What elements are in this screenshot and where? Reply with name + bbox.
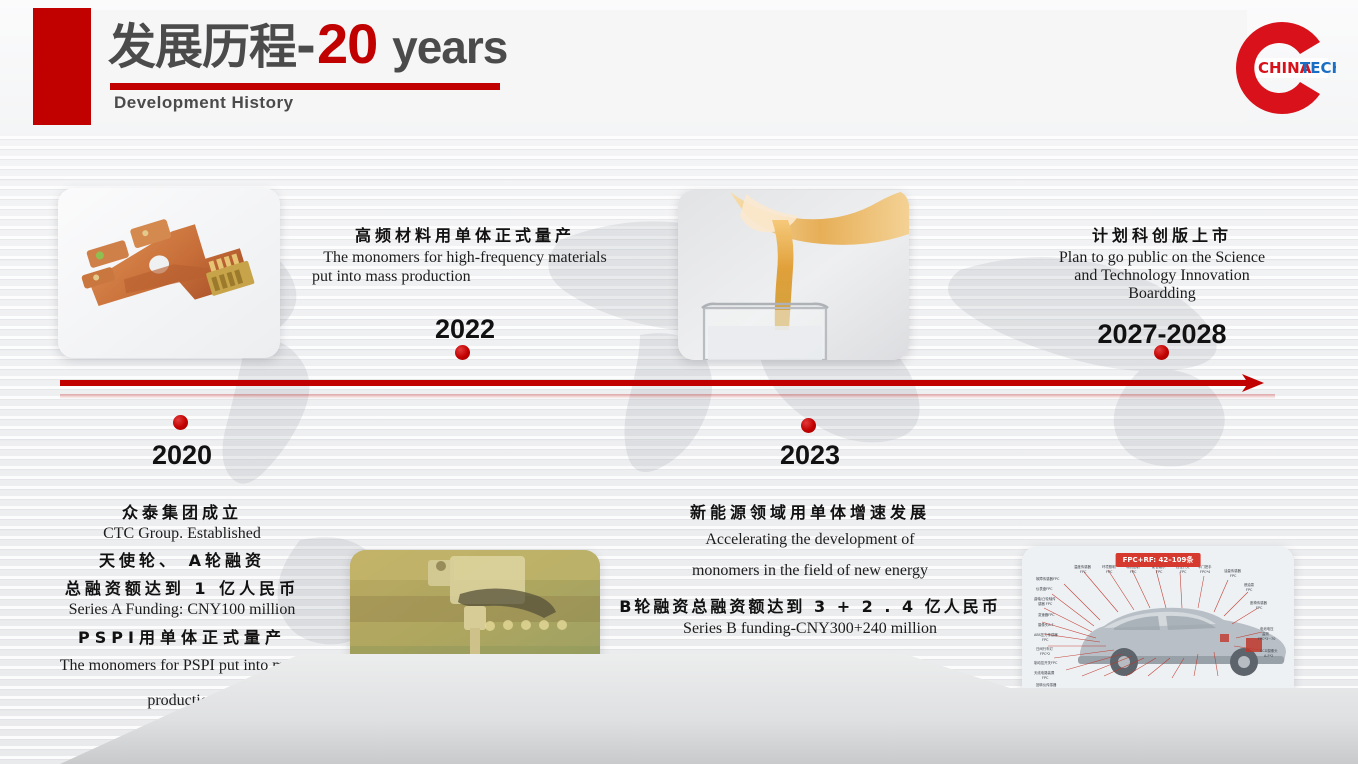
svg-text:FPC*3~70: FPC*3~70 xyxy=(1258,637,1275,641)
milestone-2023-line-3: B轮融资总融资额达到 3 + 2 . 4 亿人民币 xyxy=(615,593,1005,617)
svg-text:CCD摄像头: CCD摄像头 xyxy=(1260,648,1278,653)
timeline-axis xyxy=(60,380,1250,386)
svg-text:FPC: FPC xyxy=(1180,570,1187,574)
svg-text:回转仪传感器: 回转仪传感器 xyxy=(1036,682,1057,687)
milestone-2020-line-3: 总融资额达到 1 亿人民币 xyxy=(32,575,332,599)
svg-text:FPC*2: FPC*2 xyxy=(1236,694,1246,698)
page-title-number: 20 xyxy=(315,12,379,75)
svg-text:油量传感器: 油量传感器 xyxy=(1224,568,1242,573)
photo-car-diagram: 故障传感器FPC仪表盘FPC 曲轴/凸轮轴传感器 FPC 变速器FPC摄像头A-… xyxy=(1022,546,1294,704)
page-title-cn: 发展历程- xyxy=(108,19,315,75)
svg-text:FPC: FPC xyxy=(1042,688,1049,692)
svg-text:曲轴/凸轮轴传: 曲轴/凸轮轴传 xyxy=(1034,596,1056,601)
milestone-2023-line-5: 光刻胶单体开始布局 xyxy=(615,658,1005,682)
svg-text:温度传感器: 温度传感器 xyxy=(1074,564,1092,569)
svg-text:监测: 监测 xyxy=(1262,631,1269,636)
svg-text:燃油泵: 燃油泵 xyxy=(1244,582,1255,587)
timeline-axis-reflection xyxy=(60,394,1275,399)
page-title-years: years xyxy=(392,21,507,73)
milestone-2027-line-0: 计划科创版上市 xyxy=(1022,222,1302,246)
slide-root: 发展历程-20 years Development History CHINA … xyxy=(0,0,1358,764)
milestone-2020-line-4: Series A Funding: CNY100 million xyxy=(32,601,332,619)
milestone-2023-line-6: Photoresist monomers xyxy=(615,685,1005,703)
company-logo: CHINA TECH xyxy=(1228,14,1336,122)
svg-text:FPC: FPC xyxy=(1256,606,1263,610)
milestone-2022-line-0: 高频材料用单体正式量产 xyxy=(300,222,630,246)
svg-text:FPC*2: FPC*2 xyxy=(1040,652,1050,656)
svg-text:座椅: 座椅 xyxy=(1190,688,1197,693)
timeline-dot-2020 xyxy=(173,415,188,430)
milestone-2022-year: 2022 xyxy=(300,314,630,345)
milestone-2020: 2020 众泰集团成立 CTC Group. Established 天使轮、 … xyxy=(32,440,332,710)
svg-text:FPC: FPC xyxy=(1106,570,1113,574)
svg-text:控制系统: 控制系统 xyxy=(1210,693,1224,698)
svg-text:齿轮开关: 齿轮开关 xyxy=(1172,690,1186,695)
svg-text:FPC*2: FPC*2 xyxy=(1096,696,1106,700)
svg-text:摄像头A-F: 摄像头A-F xyxy=(1038,622,1054,627)
svg-text:A-F*2: A-F*2 xyxy=(1264,654,1273,658)
timeline-dot-2022 xyxy=(455,345,470,360)
svg-text:FPC: FPC xyxy=(1126,696,1133,700)
svg-text:FPC: FPC xyxy=(1156,570,1163,574)
svg-text:FPC: FPC xyxy=(1068,698,1075,702)
svg-text:侧向指示灯: 侧向指示灯 xyxy=(1092,690,1110,695)
svg-text:感器 FPC: 感器 FPC xyxy=(1038,601,1053,606)
svg-text:FPC*4: FPC*4 xyxy=(1152,696,1162,700)
svg-text:FPC: FPC xyxy=(1042,638,1049,642)
milestone-2023: 2023 新能源领域用单体增速发展 Accelerating the devel… xyxy=(615,440,1005,703)
milestone-2023-line-2: monomers in the field of new energy xyxy=(615,562,1005,580)
svg-text:顶置开关: 顶置开关 xyxy=(1064,692,1078,697)
svg-text:座椅传感器: 座椅传感器 xyxy=(1250,600,1268,605)
milestone-2027-line-2: and Technology Innovation xyxy=(1022,267,1302,285)
milestone-2027-line-3: Boardding xyxy=(1022,285,1302,303)
photo-fpc-board xyxy=(58,188,280,358)
milestone-2022-line-2: put into mass production xyxy=(300,268,630,286)
svg-text:仪表盘FPC: 仪表盘FPC xyxy=(1036,586,1053,591)
svg-text:故障传感器FPC: 故障传感器FPC xyxy=(1036,576,1060,581)
svg-text:门照明灯: 门照明灯 xyxy=(1150,690,1164,695)
milestone-2027: 计划科创版上市 Plan to go public on the Science… xyxy=(1022,222,1302,350)
milestone-2023-line-0: 新能源领域用单体增速发展 xyxy=(615,499,1005,523)
svg-text:FPC*4: FPC*4 xyxy=(1200,570,1210,574)
svg-text:天线电路装置: 天线电路装置 xyxy=(1034,670,1055,675)
svg-text:FPC: FPC xyxy=(1130,570,1137,574)
slide-header: 发展历程-20 years Development History CHINA … xyxy=(0,0,1358,133)
car-diagram-label: FPC+RF: 42–109条 xyxy=(1116,553,1201,567)
milestone-2022: 高频材料用单体正式量产 The monomers for high-freque… xyxy=(300,222,630,345)
svg-text:变速器FPC: 变速器FPC xyxy=(1038,612,1055,617)
milestone-2020-line-0: 众泰集团成立 xyxy=(32,499,332,523)
svg-text:车辆稳定: 车辆稳定 xyxy=(1210,688,1224,693)
svg-text:日间行车灯: 日间行车灯 xyxy=(1036,646,1054,651)
svg-text:FPC: FPC xyxy=(1230,574,1237,578)
svg-text:制动控开关FPC: 制动控开关FPC xyxy=(1034,660,1058,665)
arrow-right-icon xyxy=(1240,370,1266,396)
photo-beaker-pour xyxy=(678,190,909,360)
milestone-2023-year: 2023 xyxy=(615,440,1005,471)
milestone-2020-line-1: CTC Group. Established xyxy=(32,525,332,543)
svg-text:AQT: AQT xyxy=(1238,689,1246,693)
milestone-2027-year: 2027-2028 xyxy=(1022,319,1302,350)
milestone-2022-line-1: The monomers for high-frequency material… xyxy=(300,249,630,267)
svg-text:电池电压: 电池电压 xyxy=(1260,626,1274,631)
svg-text:FPC: FPC xyxy=(1176,696,1183,700)
milestone-2023-line-1: Accelerating the development of xyxy=(615,531,1005,549)
page-subtitle: Development History xyxy=(114,93,294,113)
svg-text:FPC: FPC xyxy=(1246,588,1253,592)
header-accent-bar xyxy=(33,8,91,125)
svg-text:方向盘开关: 方向盘开关 xyxy=(1120,690,1138,695)
svg-text:传感器: 传感器 xyxy=(1186,693,1197,698)
svg-text:ABS压力传感器: ABS压力传感器 xyxy=(1034,632,1058,637)
milestone-2027-line-1: Plan to go public on the Science xyxy=(1022,249,1302,267)
svg-text:FPC: FPC xyxy=(1080,570,1087,574)
logo-text-secondary: TECH xyxy=(1300,59,1336,77)
title-underline xyxy=(110,83,500,90)
milestone-2020-year: 2020 xyxy=(32,440,332,471)
milestone-2020-line-5: PSPI用单体正式量产 xyxy=(32,624,332,648)
milestone-2023-line-4: Series B funding-CNY300+240 million xyxy=(615,620,1005,638)
milestone-2020-line-2: 天使轮、 A轮融资 xyxy=(32,547,332,571)
milestone-2020-line-6: The monomers for PSPI put into mass xyxy=(32,657,332,675)
svg-text:FPC: FPC xyxy=(1042,676,1049,680)
timeline-dot-2023 xyxy=(801,418,816,433)
page-title: 发展历程-20 years xyxy=(108,14,507,77)
photo-machining xyxy=(350,550,600,702)
svg-text:环境照明: 环境照明 xyxy=(1102,564,1116,569)
milestone-2020-line-7: production xyxy=(32,692,332,710)
